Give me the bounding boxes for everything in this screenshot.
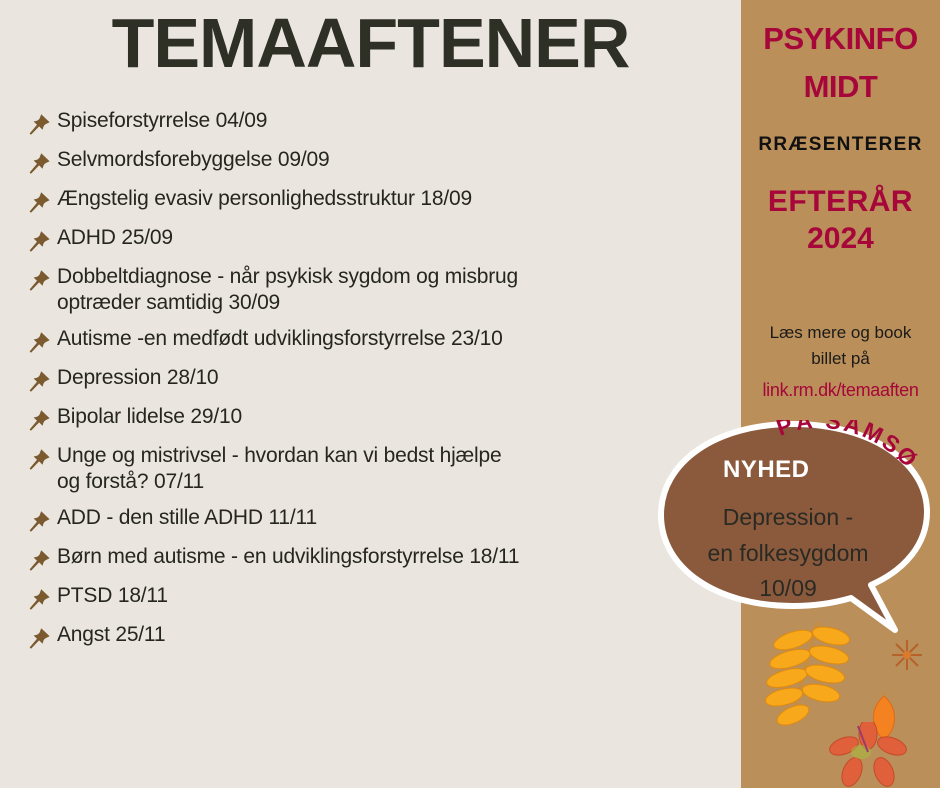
pushpin-icon — [26, 330, 52, 356]
event-row[interactable]: Bipolar lidelse 29/10 — [26, 404, 741, 434]
event-title-line: optræder samtidig 30/09 — [57, 290, 518, 316]
event-row[interactable]: Dobbeltdiagnose - når psykisk sygdom og … — [26, 264, 741, 317]
booking-line1: Læs mere og book — [770, 323, 912, 342]
event-title-line: Selvmordsforebyggelse 09/09 — [57, 147, 329, 173]
pushpin-glyph — [26, 330, 52, 356]
event-title-line: Angst 25/11 — [57, 622, 165, 648]
event-title-line: Børn med autisme - en udviklingsforstyrr… — [57, 544, 519, 570]
event-title-line: ADHD 25/09 — [57, 225, 173, 251]
pushpin-glyph — [26, 509, 52, 535]
event-row[interactable]: Børn med autisme - en udviklingsforstyrr… — [26, 544, 741, 574]
pushpin-glyph — [26, 369, 52, 395]
event-title-line: Unge og mistrivsel - hvordan kan vi beds… — [57, 443, 501, 469]
presents-label: RRÆSENTERER — [741, 134, 940, 156]
event-text: Børn med autisme - en udviklingsforstyrr… — [57, 544, 519, 570]
event-row[interactable]: Unge og mistrivsel - hvordan kan vi beds… — [26, 443, 741, 496]
event-text: PTSD 18/11 — [57, 583, 168, 609]
event-title-line: Ængstelig evasiv personlighedsstruktur 1… — [57, 186, 472, 212]
pushpin-glyph — [26, 190, 52, 216]
event-text: Unge og mistrivsel - hvordan kan vi beds… — [57, 443, 501, 496]
event-text: Ængstelig evasiv personlighedsstruktur 1… — [57, 186, 472, 212]
booking-instruction: Læs mere og book billet på — [747, 320, 934, 373]
event-text: Bipolar lidelse 29/10 — [57, 404, 242, 430]
event-title-line: Depression 28/10 — [57, 365, 218, 391]
pushpin-icon — [26, 229, 52, 255]
pushpin-glyph — [26, 447, 52, 473]
pa-samso-text: PÅ SAMSØ — [773, 420, 924, 474]
event-title-line: ADD - den stille ADHD 11/11 — [57, 505, 317, 531]
event-row[interactable]: Spiseforstyrrelse 04/09 — [26, 108, 741, 138]
bubble-body-line3: 10/09 — [759, 575, 817, 601]
season-label: EFTERÅR — [741, 185, 940, 219]
pushpin-icon — [26, 548, 52, 574]
page-title: TEMAAFTENER — [0, 8, 741, 78]
palmate-leaf-icon — [828, 722, 908, 788]
event-row[interactable]: ADHD 25/09 — [26, 225, 741, 255]
poster-canvas: TEMAAFTENER Spiseforstyrrelse 04/09Selvm… — [0, 0, 940, 788]
bubble-body-text: Depression - en folkesygdom 10/09 — [673, 500, 903, 607]
brand-name-line1: PSYKINFO — [741, 22, 940, 55]
pushpin-icon — [26, 626, 52, 652]
year-label: 2024 — [741, 222, 940, 256]
event-text: Dobbeltdiagnose - når psykisk sygdom og … — [57, 264, 518, 317]
pushpin-glyph — [26, 626, 52, 652]
event-title-line: PTSD 18/11 — [57, 583, 168, 609]
event-row[interactable]: Angst 25/11 — [26, 622, 741, 652]
pushpin-icon — [26, 509, 52, 535]
pushpin-glyph — [26, 268, 52, 294]
event-title-line: Autisme -en medfødt udviklingsforstyrrel… — [57, 326, 503, 352]
event-row[interactable]: PTSD 18/11 — [26, 583, 741, 613]
pushpin-icon — [26, 190, 52, 216]
pushpin-glyph — [26, 151, 52, 177]
pushpin-icon — [26, 587, 52, 613]
left-content-column: TEMAAFTENER Spiseforstyrrelse 04/09Selvm… — [0, 0, 741, 788]
event-text: ADHD 25/09 — [57, 225, 173, 251]
pushpin-icon — [26, 408, 52, 434]
bubble-body-line2: en folkesygdom — [707, 540, 868, 566]
event-row[interactable]: ADD - den stille ADHD 11/11 — [26, 505, 741, 535]
event-row[interactable]: Selvmordsforebyggelse 09/09 — [26, 147, 741, 177]
event-text: Autisme -en medfødt udviklingsforstyrrel… — [57, 326, 503, 352]
event-row[interactable]: Depression 28/10 — [26, 365, 741, 395]
pushpin-glyph — [26, 229, 52, 255]
event-title-line: Spiseforstyrrelse 04/09 — [57, 108, 267, 134]
speech-bubble: NYHED Depression - en folkesygdom 10/09 … — [655, 418, 940, 653]
pushpin-icon — [26, 151, 52, 177]
pushpin-icon — [26, 447, 52, 473]
pushpin-icon — [26, 369, 52, 395]
pa-samso-arc-label: PÅ SAMSØ — [773, 420, 940, 510]
pushpin-glyph — [26, 548, 52, 574]
event-row[interactable]: Ængstelig evasiv personlighedsstruktur 1… — [26, 186, 741, 216]
event-text: Selvmordsforebyggelse 09/09 — [57, 147, 329, 173]
event-text: Depression 28/10 — [57, 365, 218, 391]
booking-link[interactable]: link.rm.dk/temaaften — [741, 380, 940, 401]
booking-line2: billet på — [811, 349, 870, 368]
event-text: Angst 25/11 — [57, 622, 165, 648]
pushpin-glyph — [26, 112, 52, 138]
pushpin-icon — [26, 268, 52, 294]
pushpin-glyph — [26, 408, 52, 434]
brand-name-line2: MIDT — [741, 70, 940, 103]
event-row[interactable]: Autisme -en medfødt udviklingsforstyrrel… — [26, 326, 741, 356]
event-list: Spiseforstyrrelse 04/09Selvmordsforebygg… — [26, 108, 741, 661]
pushpin-icon — [26, 112, 52, 138]
event-text: ADD - den stille ADHD 11/11 — [57, 505, 317, 531]
event-title-line: og forstå? 07/11 — [57, 469, 501, 495]
event-title-line: Bipolar lidelse 29/10 — [57, 404, 242, 430]
event-title-line: Dobbeltdiagnose - når psykisk sygdom og … — [57, 264, 518, 290]
pushpin-glyph — [26, 587, 52, 613]
event-text: Spiseforstyrrelse 04/09 — [57, 108, 267, 134]
